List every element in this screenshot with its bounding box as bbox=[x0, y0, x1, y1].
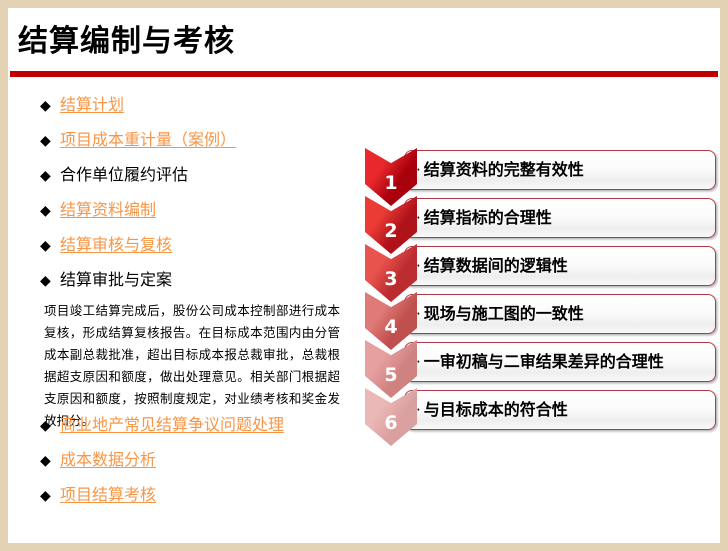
bullet-link-label[interactable]: 结算审核与复核 bbox=[60, 234, 172, 256]
diamond-bullet-icon: ◆ bbox=[40, 235, 51, 257]
bullet-link-label[interactable]: 项目成本重计量（案例） bbox=[60, 129, 236, 151]
chevron-step-number: 5 bbox=[384, 366, 397, 385]
chevron-process-diagram: ·结算资料的完整有效性1·结算指标的合理性2·结算数据间的逻辑性3·现场与施工图… bbox=[360, 148, 720, 460]
chevron-step-number: 1 bbox=[384, 174, 397, 193]
chevron-item-label: 一审初稿与二审结果差异的合理性 bbox=[424, 353, 664, 371]
title-divider-rule bbox=[10, 71, 718, 77]
chevron-text-row: ·一审初稿与二审结果差异的合理性 bbox=[405, 353, 715, 371]
bullet-item-top-6: ◆结算审批与定案 bbox=[8, 269, 356, 304]
chevron-text-box: ·一审初稿与二审结果差异的合理性 bbox=[404, 342, 716, 382]
chevron-step-number: 4 bbox=[384, 318, 397, 337]
slide-header: 结算编制与考核 bbox=[8, 22, 720, 84]
chevron-item-label: 与目标成本的符合性 bbox=[424, 401, 568, 419]
bullet-item-bottom-2[interactable]: ◆成本数据分析 bbox=[8, 449, 356, 484]
bullet-link-label[interactable]: 结算计划 bbox=[60, 94, 124, 116]
bullet-item-top-4[interactable]: ◆结算资料编制 bbox=[8, 199, 356, 234]
bullet-list-bottom: ◆商业地产常见结算争议问题处理◆成本数据分析◆项目结算考核 bbox=[8, 414, 356, 519]
page-title: 结算编制与考核 bbox=[18, 22, 235, 62]
chevron-step-number: 2 bbox=[384, 222, 397, 241]
left-content-column: ◆结算计划◆项目成本重计量（案例）◆合作单位履约评估◆结算资料编制◆结算审核与复… bbox=[8, 94, 356, 534]
chevron-row-1: ·结算资料的完整有效性1 bbox=[360, 148, 720, 196]
diamond-bullet-icon: ◆ bbox=[40, 130, 51, 152]
bullet-list-top: ◆结算计划◆项目成本重计量（案例）◆合作单位履约评估◆结算资料编制◆结算审核与复… bbox=[8, 94, 356, 304]
bullet-item-top-3: ◆合作单位履约评估 bbox=[8, 164, 356, 199]
chevron-step-number: 6 bbox=[384, 414, 397, 433]
chevron-text-row: ·结算数据间的逻辑性 bbox=[405, 257, 715, 275]
chevron-row-3: ·结算数据间的逻辑性3 bbox=[360, 244, 720, 292]
diamond-bullet-icon: ◆ bbox=[40, 270, 51, 292]
chevron-row-5: ·一审初稿与二审结果差异的合理性5 bbox=[360, 340, 720, 388]
chevron-text-box: ·结算指标的合理性 bbox=[404, 198, 716, 238]
chevron-row-2: ·结算指标的合理性2 bbox=[360, 196, 720, 244]
bullet-static-label: 结算审批与定案 bbox=[60, 269, 172, 291]
chevron-step-number: 3 bbox=[384, 270, 397, 289]
chevron-text-box: ·结算数据间的逻辑性 bbox=[404, 246, 716, 286]
diamond-bullet-icon: ◆ bbox=[40, 415, 51, 437]
bullet-item-top-1[interactable]: ◆结算计划 bbox=[8, 94, 356, 129]
bullet-item-top-2[interactable]: ◆项目成本重计量（案例） bbox=[8, 129, 356, 164]
chevron-text-row: ·结算资料的完整有效性 bbox=[405, 161, 715, 179]
chevron-item-label: 现场与施工图的一致性 bbox=[424, 305, 584, 323]
bullet-link-label[interactable]: 成本数据分析 bbox=[60, 449, 156, 471]
chevron-text-row: ·现场与施工图的一致性 bbox=[405, 305, 715, 323]
bullet-item-top-5[interactable]: ◆结算审核与复核 bbox=[8, 234, 356, 269]
chevron-text-row: ·与目标成本的符合性 bbox=[405, 401, 715, 419]
bullet-link-label[interactable]: 商业地产常见结算争议问题处理 bbox=[60, 414, 284, 436]
chevron-text-row: ·结算指标的合理性 bbox=[405, 209, 715, 227]
chevron-row-4: ·现场与施工图的一致性4 bbox=[360, 292, 720, 340]
diamond-bullet-icon: ◆ bbox=[40, 200, 51, 222]
chevron-item-label: 结算资料的完整有效性 bbox=[424, 161, 584, 179]
chevron-text-box: ·结算资料的完整有效性 bbox=[404, 150, 716, 190]
slide-canvas: 结算编制与考核 ◆结算计划◆项目成本重计量（案例）◆合作单位履约评估◆结算资料编… bbox=[8, 8, 720, 543]
bullet-link-label[interactable]: 项目结算考核 bbox=[60, 484, 156, 506]
diamond-bullet-icon: ◆ bbox=[40, 95, 51, 117]
chevron-text-box: ·现场与施工图的一致性 bbox=[404, 294, 716, 334]
body-paragraph: 项目竣工结算完成后，股份公司成本控制部进行成本复核，形成结算复核报告。在目标成本… bbox=[44, 300, 340, 432]
chevron-row-6: ·与目标成本的符合性6 bbox=[360, 388, 720, 436]
bullet-link-label[interactable]: 结算资料编制 bbox=[60, 199, 156, 221]
bullet-item-bottom-3[interactable]: ◆项目结算考核 bbox=[8, 484, 356, 519]
diamond-bullet-icon: ◆ bbox=[40, 165, 51, 187]
chevron-item-label: 结算数据间的逻辑性 bbox=[424, 257, 568, 275]
chevron-item-label: 结算指标的合理性 bbox=[424, 209, 552, 227]
slide-frame: 结算编制与考核 ◆结算计划◆项目成本重计量（案例）◆合作单位履约评估◆结算资料编… bbox=[0, 0, 728, 551]
diamond-bullet-icon: ◆ bbox=[40, 485, 51, 507]
bullet-static-label: 合作单位履约评估 bbox=[60, 164, 188, 186]
chevron-text-box: ·与目标成本的符合性 bbox=[404, 390, 716, 430]
diamond-bullet-icon: ◆ bbox=[40, 450, 51, 472]
bullet-item-bottom-1[interactable]: ◆商业地产常见结算争议问题处理 bbox=[8, 414, 356, 449]
